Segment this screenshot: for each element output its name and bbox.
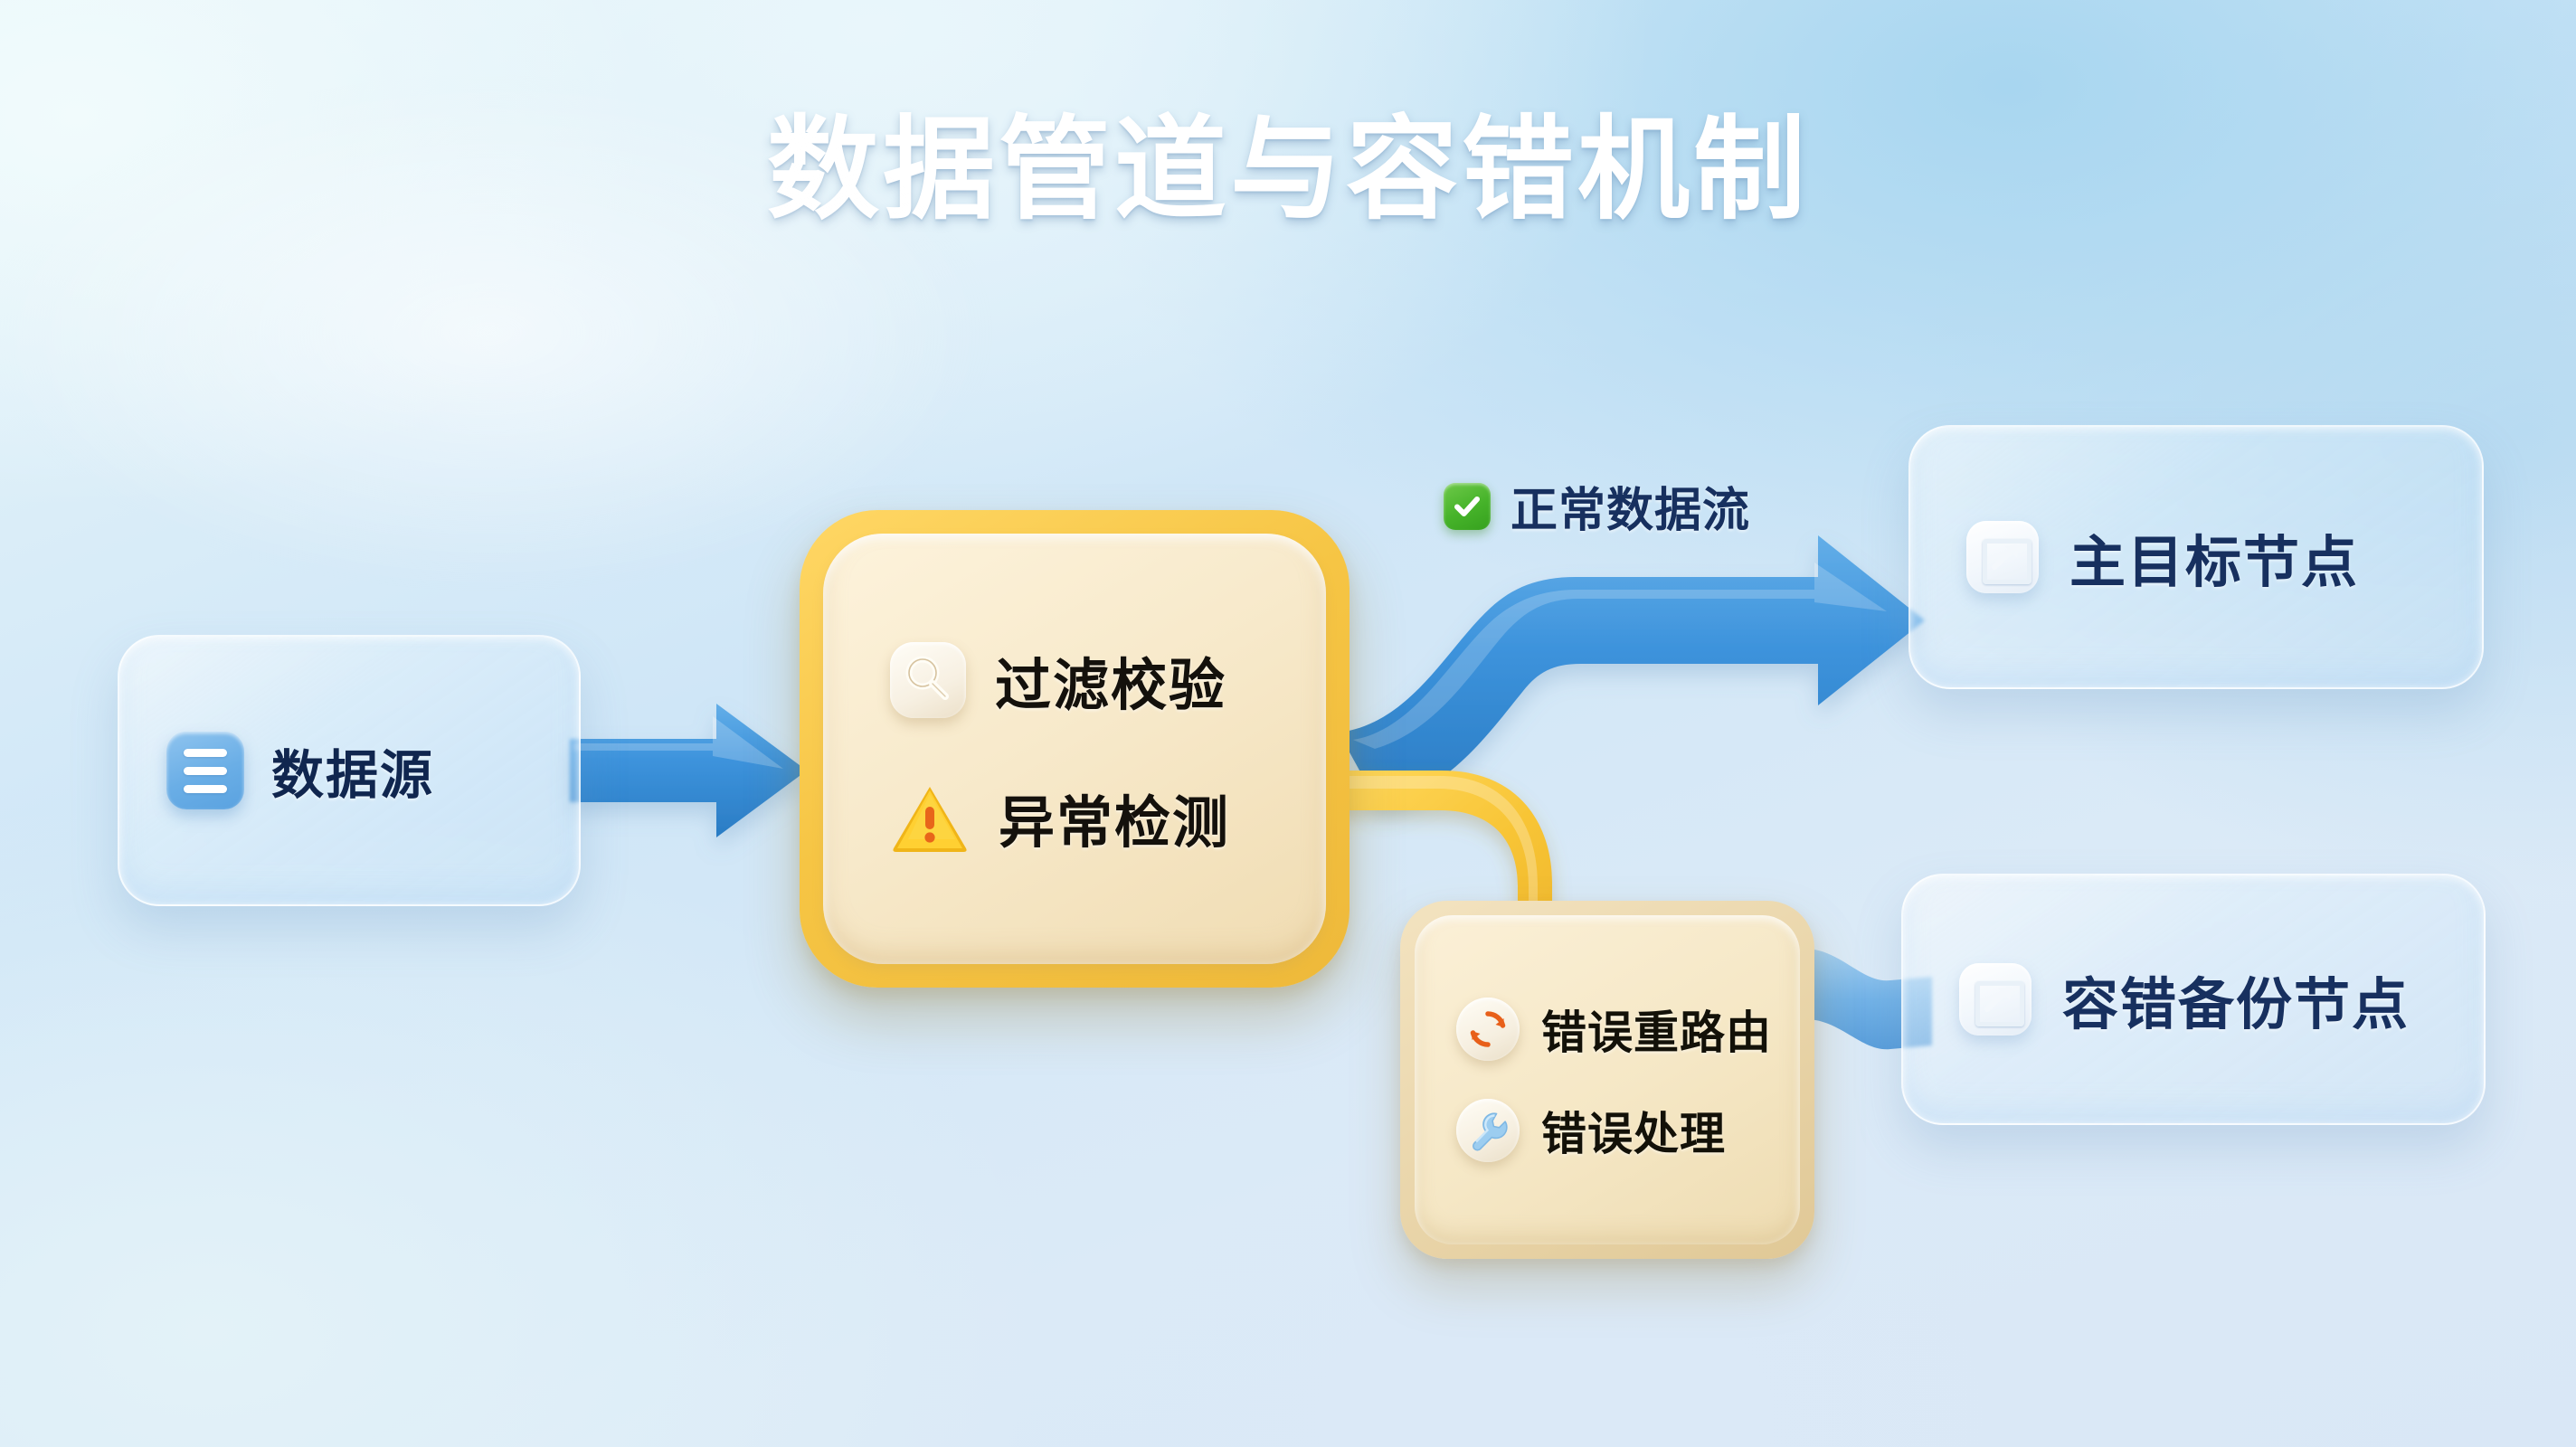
check-icon (1444, 483, 1491, 530)
node-primary-target-label: 主目标节点 (2069, 516, 2359, 598)
pipeline-row-filter[interactable]: 过滤校验 (890, 639, 1326, 721)
edge-label-normal-flow-text: 正常数据流 (1511, 472, 1750, 540)
edge-label-normal-flow: 正常数据流 (1444, 472, 1750, 540)
warning-icon (890, 781, 970, 854)
list-icon (166, 732, 244, 809)
node-pipeline[interactable]: 过滤校验 异常检测 (800, 510, 1350, 988)
error-row-reroute[interactable]: 错误重路由 (1456, 997, 1800, 1062)
export-icon (1959, 963, 2031, 1036)
pipeline-row-anomaly-label: 异常检测 (999, 777, 1230, 858)
error-row-reroute-label: 错误重路由 (1541, 997, 1772, 1062)
pipeline-row-filter-label: 过滤校验 (995, 639, 1226, 721)
node-backup-target-label: 容错备份节点 (2062, 959, 2410, 1040)
page-title: 数据管道与容错机制 (0, 110, 2576, 232)
edge-pipeline-to-primary (1339, 535, 1925, 805)
pipeline-row-anomaly[interactable]: 异常检测 (890, 777, 1326, 858)
export-icon (1966, 521, 2039, 593)
node-data-source[interactable]: 数据源 (118, 635, 581, 906)
wrench-icon (1456, 1099, 1520, 1162)
search-icon (890, 642, 966, 718)
node-data-source-label: 数据源 (271, 733, 434, 809)
retry-icon (1456, 998, 1520, 1061)
edge-source-to-pipeline (570, 704, 807, 837)
node-error-handler[interactable]: 错误重路由 错误处理 (1400, 901, 1814, 1259)
diagram-canvas: 数据管道与容错机制 (0, 0, 2576, 1447)
node-backup-target[interactable]: 容错备份节点 (1901, 874, 2486, 1125)
error-row-handling[interactable]: 错误处理 (1456, 1098, 1800, 1163)
node-primary-target[interactable]: 主目标节点 (1908, 425, 2484, 689)
error-row-handling-label: 错误处理 (1541, 1098, 1726, 1163)
